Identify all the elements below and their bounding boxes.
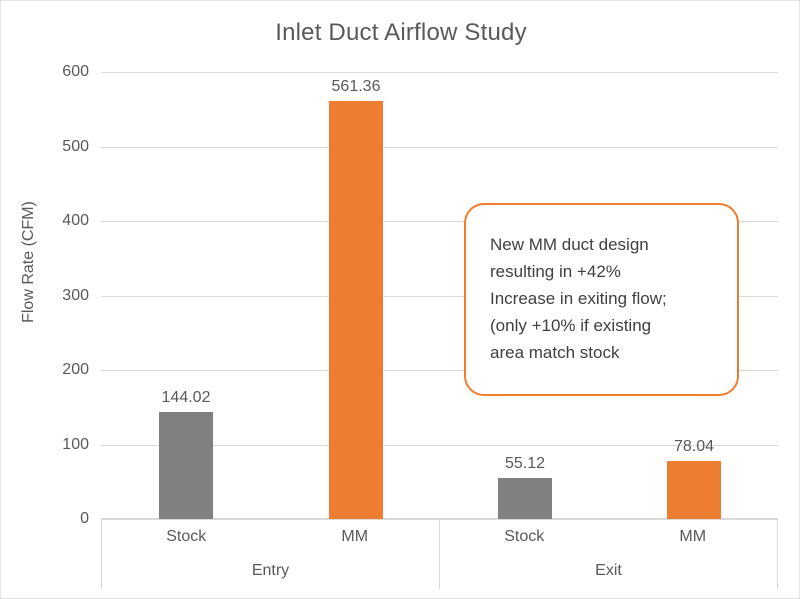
bar-label-entry-mm: 561.36 [332, 78, 381, 96]
y-tick-100: 100 [9, 436, 89, 454]
annotation-callout[interactable]: New MM duct design resulting in +42% Inc… [464, 203, 739, 396]
category-group-label-exit: Exit [440, 554, 777, 589]
category-group-exit: Stock MM Exit [439, 520, 777, 589]
y-tick-0: 0 [9, 510, 89, 528]
category-axis: Stock MM Entry Stock MM Exit [101, 519, 778, 589]
chart-container: Inlet Duct Airflow Study Flow Rate (CFM)… [0, 0, 800, 599]
category-subrow-entry: Stock MM [102, 520, 439, 554]
bar-entry-mm[interactable] [329, 101, 383, 519]
category-group-label-entry: Entry [102, 554, 439, 589]
annotation-line-2: resulting in +42% [490, 258, 737, 285]
category-label-exit-stock: Stock [440, 520, 609, 554]
category-label-entry-mm: MM [271, 520, 440, 554]
y-tick-400: 400 [9, 212, 89, 230]
bar-label-exit-mm: 78.04 [674, 438, 714, 456]
gridline-500 [101, 147, 778, 148]
bar-exit-stock[interactable] [498, 478, 552, 519]
gridline-600 [101, 72, 778, 73]
y-tick-600: 600 [9, 63, 89, 81]
category-label-exit-mm: MM [609, 520, 778, 554]
y-axis-tick-labels: 600 500 400 300 200 100 0 [1, 72, 89, 519]
category-subrow-exit: Stock MM [440, 520, 777, 554]
annotation-line-5: area match stock [490, 339, 737, 366]
bar-label-entry-stock: 144.02 [162, 389, 211, 407]
bar-entry-stock[interactable] [159, 412, 213, 519]
category-group-entry: Stock MM Entry [102, 520, 439, 589]
annotation-line-3: Increase in exiting flow; [490, 285, 737, 312]
y-tick-300: 300 [9, 287, 89, 305]
annotation-line-1: New MM duct design [490, 231, 737, 258]
category-label-entry-stock: Stock [102, 520, 271, 554]
bar-label-exit-stock: 55.12 [505, 455, 545, 473]
y-tick-200: 200 [9, 361, 89, 379]
bar-exit-mm[interactable] [667, 461, 721, 519]
chart-title: Inlet Duct Airflow Study [1, 19, 800, 47]
y-tick-500: 500 [9, 138, 89, 156]
annotation-line-4: (only +10% if existing [490, 312, 737, 339]
